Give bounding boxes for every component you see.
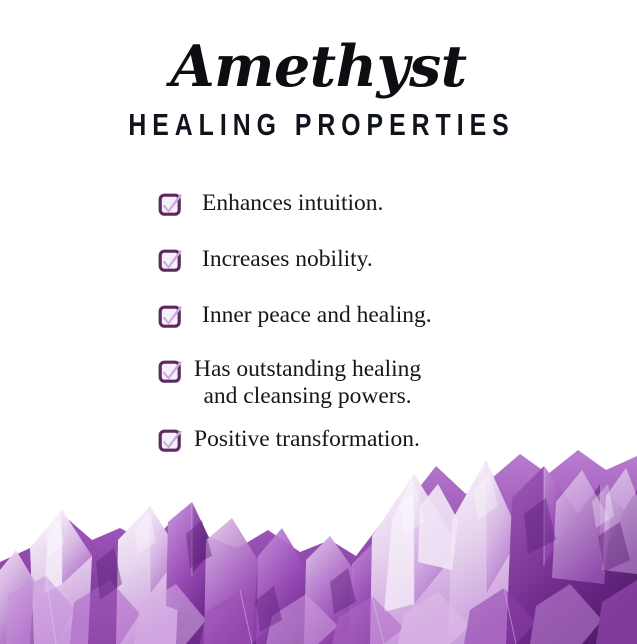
list-item: Has outstanding healing and cleansing po… [158, 357, 421, 410]
list-item: Enhances intuition. [158, 190, 383, 217]
checked-checkbox-icon [158, 303, 184, 329]
amethyst-crystal-cluster-image [0, 444, 637, 644]
checked-checkbox-icon [158, 358, 184, 384]
checked-checkbox-icon [158, 191, 184, 217]
list-item-label: Increases nobility. [202, 245, 373, 273]
amethyst-healing-properties-poster: Amethyst HEALING PROPERTIES Enhances int… [0, 0, 637, 644]
page-title: Amethyst [0, 0, 637, 95]
list-item: Inner peace and healing. [158, 302, 432, 329]
page-subtitle: HEALING PROPERTIES [64, 95, 574, 140]
list-item-label: Enhances intuition. [202, 189, 383, 217]
list-item: Increases nobility. [158, 246, 373, 273]
checked-checkbox-icon [158, 247, 184, 273]
list-item-label: Inner peace and healing. [202, 301, 432, 329]
list-item-label: Has outstanding healing and cleansing po… [194, 356, 421, 410]
poster-header: Amethyst HEALING PROPERTIES [0, 0, 637, 140]
